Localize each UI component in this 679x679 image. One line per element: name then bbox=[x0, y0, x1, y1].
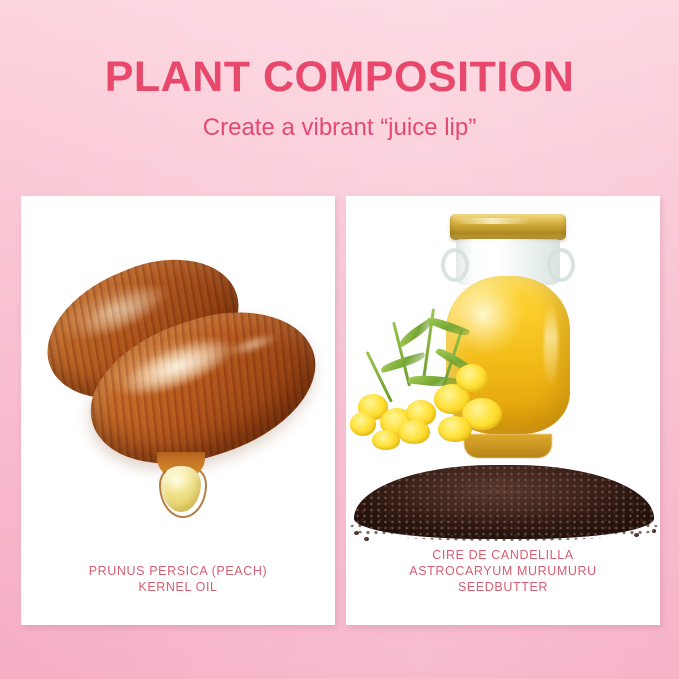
ingredient-caption: PRUNUS PERSICA (PEACH) KERNEL OIL bbox=[21, 563, 335, 625]
jar-scene bbox=[346, 196, 660, 547]
plant-composition-poster: PLANT COMPOSITION Create a vibrant “juic… bbox=[0, 0, 679, 679]
seed-spill bbox=[634, 533, 639, 537]
flower-bloom bbox=[372, 430, 400, 450]
jar-handle-right bbox=[547, 248, 575, 282]
almond-scene bbox=[21, 196, 335, 563]
flower-bloom bbox=[398, 420, 430, 444]
jar-lid bbox=[450, 214, 566, 240]
seed-spill bbox=[642, 521, 647, 525]
ingredient-card-candelilla-murumuru: CIRE DE CANDELILLA ASTROCARYUM MURUMURU … bbox=[346, 196, 660, 625]
jar-handle-left bbox=[441, 248, 469, 282]
flower-bloom bbox=[456, 364, 488, 392]
oil-droplet-outline bbox=[159, 464, 207, 518]
ingredient-card-list: PRUNUS PERSICA (PEACH) KERNEL OIL bbox=[21, 196, 660, 625]
rapeseed-flowers-icon bbox=[350, 306, 535, 451]
seed-spill bbox=[354, 531, 359, 535]
seed-spill bbox=[364, 537, 369, 541]
oil-droplet-icon bbox=[153, 452, 209, 514]
ingredient-caption: CIRE DE CANDELILLA ASTROCARYUM MURUMURU … bbox=[346, 547, 660, 625]
page-title: PLANT COMPOSITION bbox=[0, 52, 679, 102]
poster-header: PLANT COMPOSITION Create a vibrant “juic… bbox=[0, 52, 679, 142]
flower-bloom bbox=[438, 416, 472, 442]
oil-jar-artwork bbox=[346, 196, 660, 547]
ingredient-card-peach-kernel-oil: PRUNUS PERSICA (PEACH) KERNEL OIL bbox=[21, 196, 335, 625]
page-subtitle: Create a vibrant “juice lip” bbox=[0, 114, 679, 142]
seed-spill bbox=[652, 529, 656, 533]
flower-bloom bbox=[350, 412, 376, 436]
almond-artwork bbox=[21, 196, 335, 563]
seed-pile-icon bbox=[354, 465, 654, 539]
